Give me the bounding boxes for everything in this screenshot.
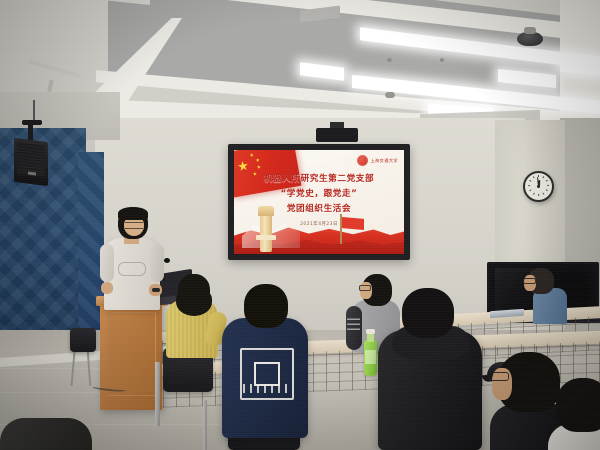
attendee-7-glasses-icon bbox=[523, 278, 536, 284]
attendee-2-head bbox=[244, 284, 288, 328]
presenter-hand-left bbox=[101, 282, 113, 294]
torch-crossbar bbox=[256, 235, 276, 240]
ceiling-smoke-detector-icon bbox=[387, 58, 392, 62]
slide-title-line-3: 党团组织生活会 bbox=[234, 202, 404, 214]
slide-date: 2021年4月23日 bbox=[234, 221, 404, 227]
attendee-5-glasses-icon bbox=[489, 372, 509, 381]
university-seal-icon bbox=[357, 155, 368, 166]
ceiling-dome-cap bbox=[524, 27, 536, 34]
presenter-shirt-graphic bbox=[118, 262, 146, 276]
meeting-room-photo: ★ ★ ★ ★ ★ 上海交通大学 bbox=[0, 0, 600, 450]
presenter-glasses-icon bbox=[125, 222, 143, 229]
ceiling-sprinkler-icon bbox=[440, 58, 444, 62]
projection-display[interactable]: ★ ★ ★ ★ ★ 上海交通大学 bbox=[228, 144, 410, 260]
attendee-6-head bbox=[556, 378, 600, 432]
wall-clock bbox=[523, 171, 554, 202]
bottle-cap-icon bbox=[366, 329, 375, 334]
attendee-3-glasses-icon bbox=[359, 285, 371, 291]
display-screen: ★ ★ ★ ★ ★ 上海交通大学 bbox=[234, 150, 404, 254]
foreground-attendee-shoulder bbox=[0, 418, 92, 450]
slide-title-block: 机器人所研究生第二党支部 “学党史，跟党走” 党团组织生活会 2021年4月23… bbox=[234, 172, 404, 227]
flag-star-small-3: ★ bbox=[256, 165, 261, 171]
ceiling-dome-sensor-icon bbox=[517, 32, 543, 46]
microphone-icon bbox=[164, 258, 170, 263]
chair-back-left bbox=[70, 328, 96, 352]
flag-star-small-2: ★ bbox=[255, 158, 260, 164]
attendee-3-sleeve-stripes bbox=[347, 318, 360, 330]
university-logo-text: 上海交通大学 bbox=[370, 158, 398, 164]
attendee-4-head bbox=[402, 288, 454, 338]
pedestal-leg-1 bbox=[155, 362, 160, 426]
clock-center-pin bbox=[537, 185, 540, 188]
attendee-2-shirt-print-inner bbox=[254, 362, 280, 386]
university-logo: 上海交通大学 bbox=[357, 155, 398, 166]
presenter-watch-icon bbox=[152, 288, 160, 292]
slide-title-line-1: 机器人所研究生第二党支部 bbox=[234, 172, 404, 184]
presenter-sleeve-left bbox=[100, 244, 114, 282]
wall-far-right bbox=[560, 118, 600, 278]
presenter-hair-fringe bbox=[118, 207, 148, 220]
ceiling-fitting-icon bbox=[385, 92, 395, 98]
attendee-2-shirt-print-wave bbox=[243, 384, 287, 393]
attendee-1-hair-long bbox=[176, 288, 212, 316]
presentation-slide: ★ ★ ★ ★ ★ 上海交通大学 bbox=[234, 150, 404, 254]
slide-title-line-2: “学党史，跟党走” bbox=[234, 187, 404, 199]
flag-star-small-1: ★ bbox=[249, 153, 254, 159]
lectern-front-panel bbox=[108, 312, 156, 396]
bottle-label bbox=[365, 350, 376, 364]
projector-mount-icon bbox=[316, 128, 358, 142]
presenter-sleeve-right bbox=[150, 244, 164, 282]
pedestal-leg-2 bbox=[203, 400, 207, 450]
